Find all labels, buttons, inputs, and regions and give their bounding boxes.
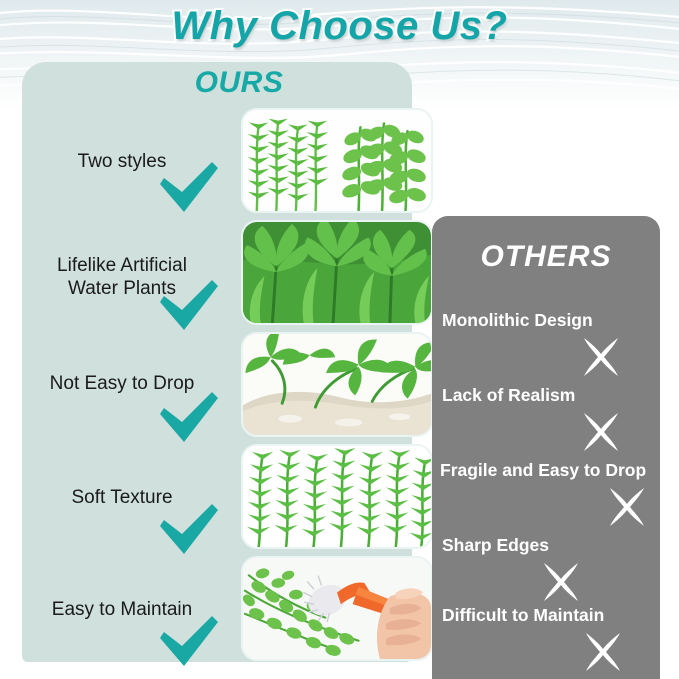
others-heading: OTHERS — [432, 240, 660, 274]
others-item-label: Lack of Realism — [442, 385, 575, 406]
ours-item-thumbnail — [241, 332, 433, 437]
others-row: Difficult to Maintain — [442, 605, 652, 679]
others-item-label: Sharp Edges — [442, 535, 549, 556]
ours-heading: OURS — [22, 66, 412, 100]
check-icon — [158, 616, 220, 668]
page-title: Why Choose Us? — [0, 4, 679, 49]
ours-row: Lifelike Artificial Water Plants — [22, 218, 412, 328]
others-item-label: Fragile and Easy to Drop — [440, 460, 646, 481]
others-row: Fragile and Easy to Drop — [440, 460, 660, 536]
ours-item-thumbnail — [241, 444, 433, 549]
others-row: Monolithic Design — [442, 310, 652, 386]
check-icon — [158, 162, 220, 214]
ours-row: Not Easy to Drop — [22, 330, 412, 440]
ours-item-thumbnail — [241, 556, 433, 661]
check-icon — [158, 392, 220, 444]
cross-icon — [580, 411, 622, 453]
ours-row: Soft Texture — [22, 442, 412, 552]
check-icon — [158, 504, 220, 556]
others-item-label: Difficult to Maintain — [442, 605, 604, 626]
ours-item-thumbnail — [241, 220, 433, 325]
infographic-canvas: Why Choose Us? OURS Two styles — [0, 0, 679, 679]
ours-row: Two styles — [22, 106, 412, 216]
others-row: Lack of Realism — [442, 385, 652, 461]
check-icon — [158, 280, 220, 332]
others-row: Sharp Edges — [442, 535, 652, 611]
cross-icon — [580, 336, 622, 378]
ours-item-thumbnail — [241, 108, 433, 213]
others-item-label: Monolithic Design — [442, 310, 593, 331]
cross-icon — [540, 561, 582, 603]
cross-icon — [582, 631, 624, 673]
ours-row: Easy to Maintain — [22, 554, 412, 664]
cross-icon — [606, 486, 648, 528]
